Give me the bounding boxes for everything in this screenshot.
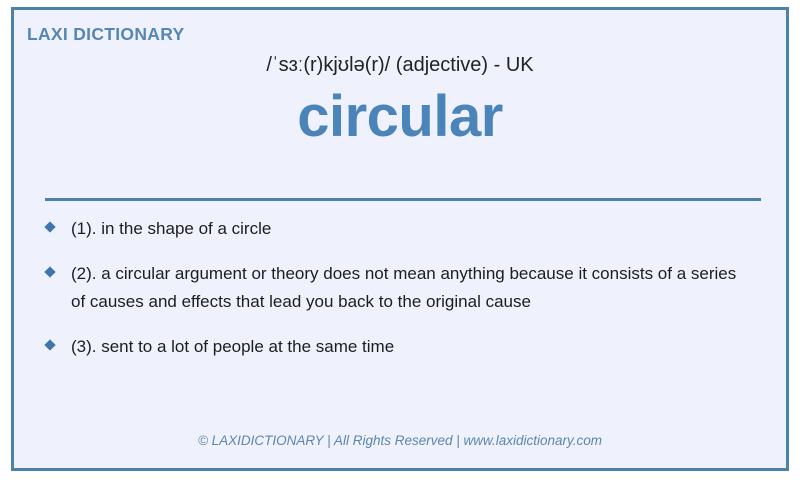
- definition-text: (1). in the shape of a circle: [71, 215, 741, 243]
- list-item: (3). sent to a lot of people at the same…: [41, 333, 741, 361]
- footer-copyright: © LAXIDICTIONARY | All Rights Reserved |…: [14, 433, 786, 448]
- diamond-bullet-icon: [44, 221, 55, 232]
- definition-text: (3). sent to a lot of people at the same…: [71, 333, 741, 361]
- list-item: (1). in the shape of a circle: [41, 215, 741, 243]
- phonetic-transcription: /ˈsɜː(r)kjʊlə(r)/ (adjective) - UK: [14, 52, 786, 78]
- list-item: (2). a circular argument or theory does …: [41, 260, 741, 316]
- dictionary-card: LAXI DICTIONARY /ˈsɜː(r)kjʊlə(r)/ (adjec…: [11, 7, 789, 471]
- definition-text: (2). a circular argument or theory does …: [71, 260, 741, 316]
- section-divider: [45, 198, 761, 201]
- brand-logo-text: LAXI DICTIONARY: [27, 24, 184, 45]
- diamond-bullet-icon: [44, 339, 55, 350]
- word-entry-block: /ˈsɜː(r)kjʊlə(r)/ (adjective) - UK circu…: [14, 52, 786, 148]
- headword: circular: [14, 86, 786, 148]
- definition-list: (1). in the shape of a circle (2). a cir…: [41, 215, 741, 361]
- diamond-bullet-icon: [44, 266, 55, 277]
